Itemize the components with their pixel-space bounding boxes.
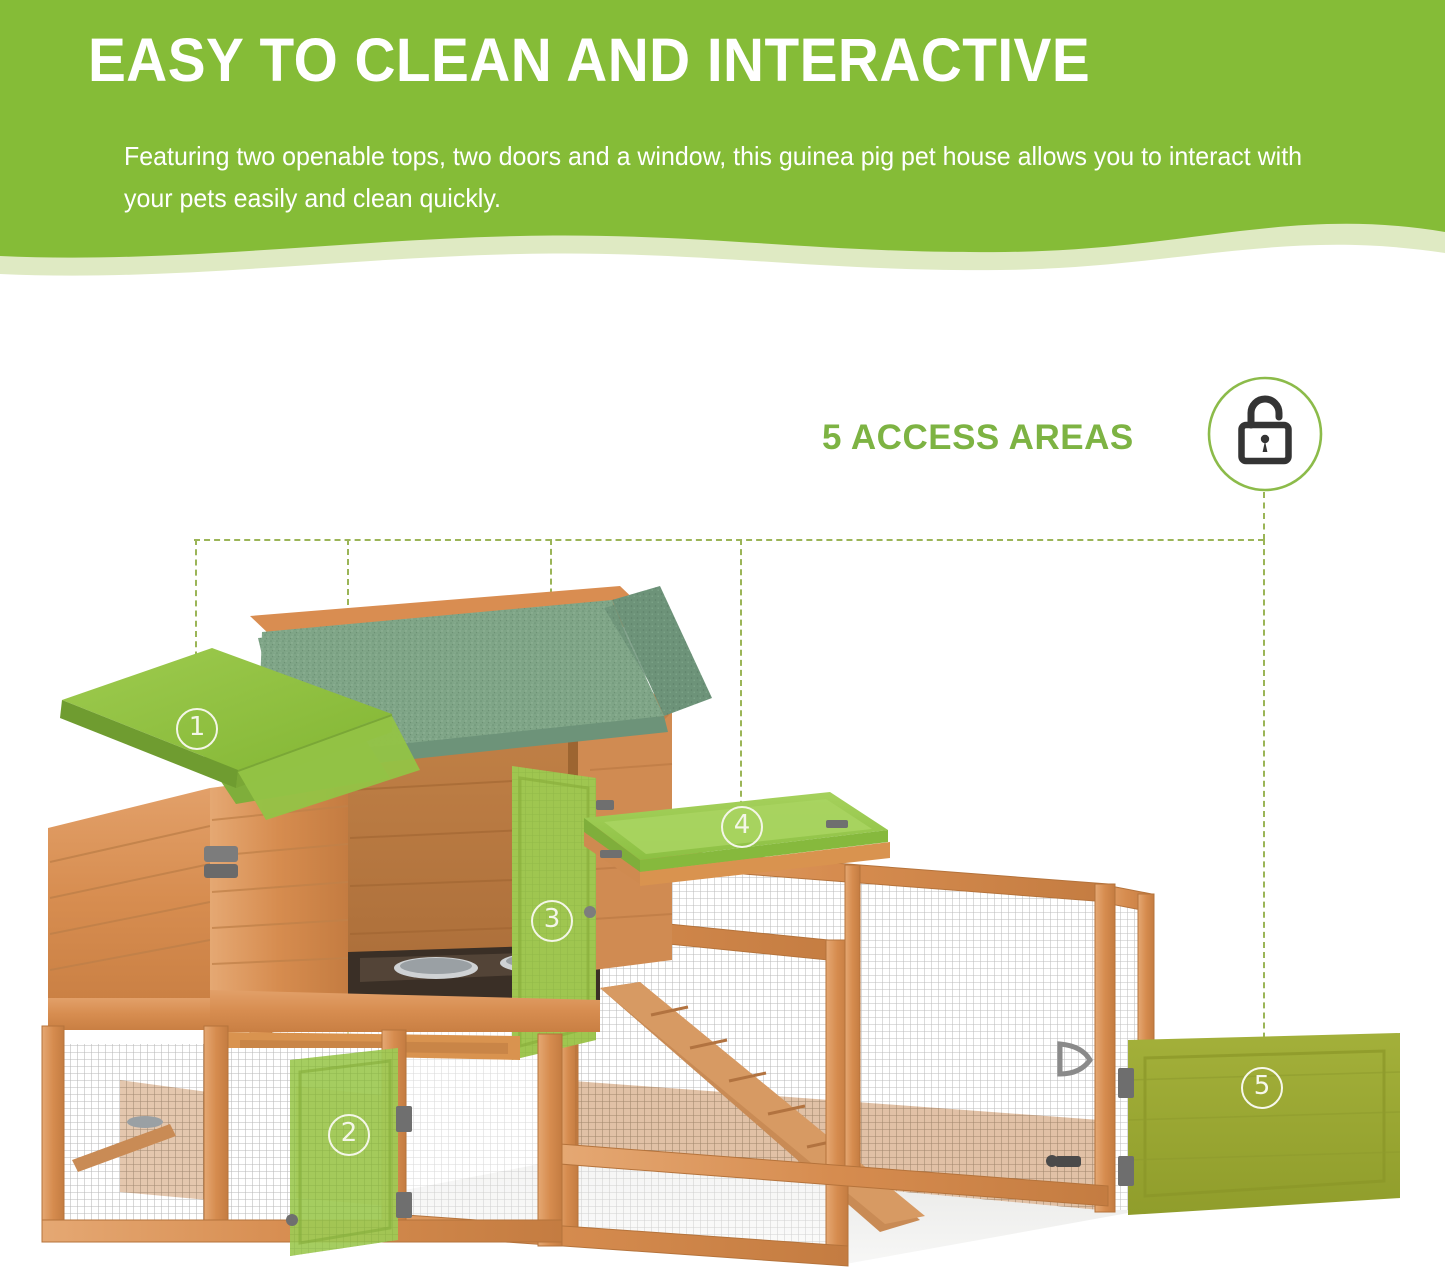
run-end-door[interactable]	[1118, 1033, 1400, 1215]
product-photo	[0, 520, 1445, 1274]
house-hinges	[204, 846, 238, 878]
banner-title: EASY TO CLEAN AND INTERACTIVE	[88, 26, 1297, 94]
lower-run-door[interactable]	[286, 1048, 412, 1256]
access-areas-label: 5 ACCESS AREAS	[822, 418, 1134, 458]
open-padlock-icon	[1206, 375, 1324, 493]
header-banner: EASY TO CLEAN AND INTERACTIVE Featuring …	[0, 0, 1445, 285]
banner-subtitle: Featuring two openable tops, two doors a…	[124, 135, 1305, 219]
run-latch[interactable]	[1046, 1155, 1081, 1167]
